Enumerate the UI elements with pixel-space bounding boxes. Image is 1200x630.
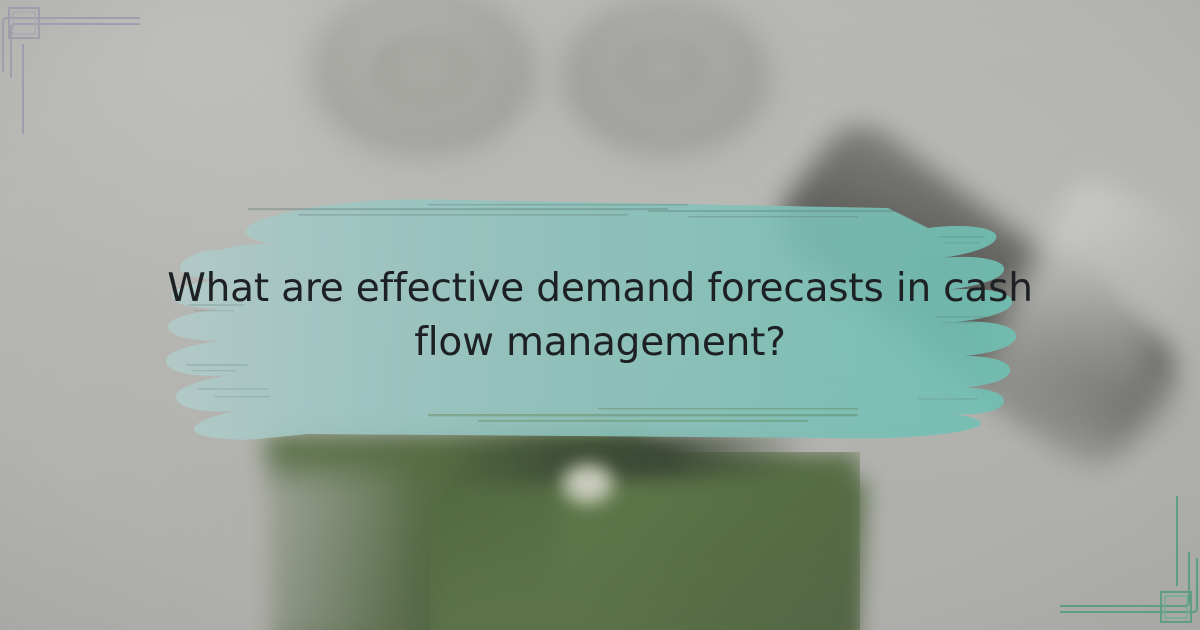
poster-canvas: What are effective demand forecasts in c… xyxy=(0,0,1200,630)
page-title: What are effective demand forecasts in c… xyxy=(150,262,1050,370)
